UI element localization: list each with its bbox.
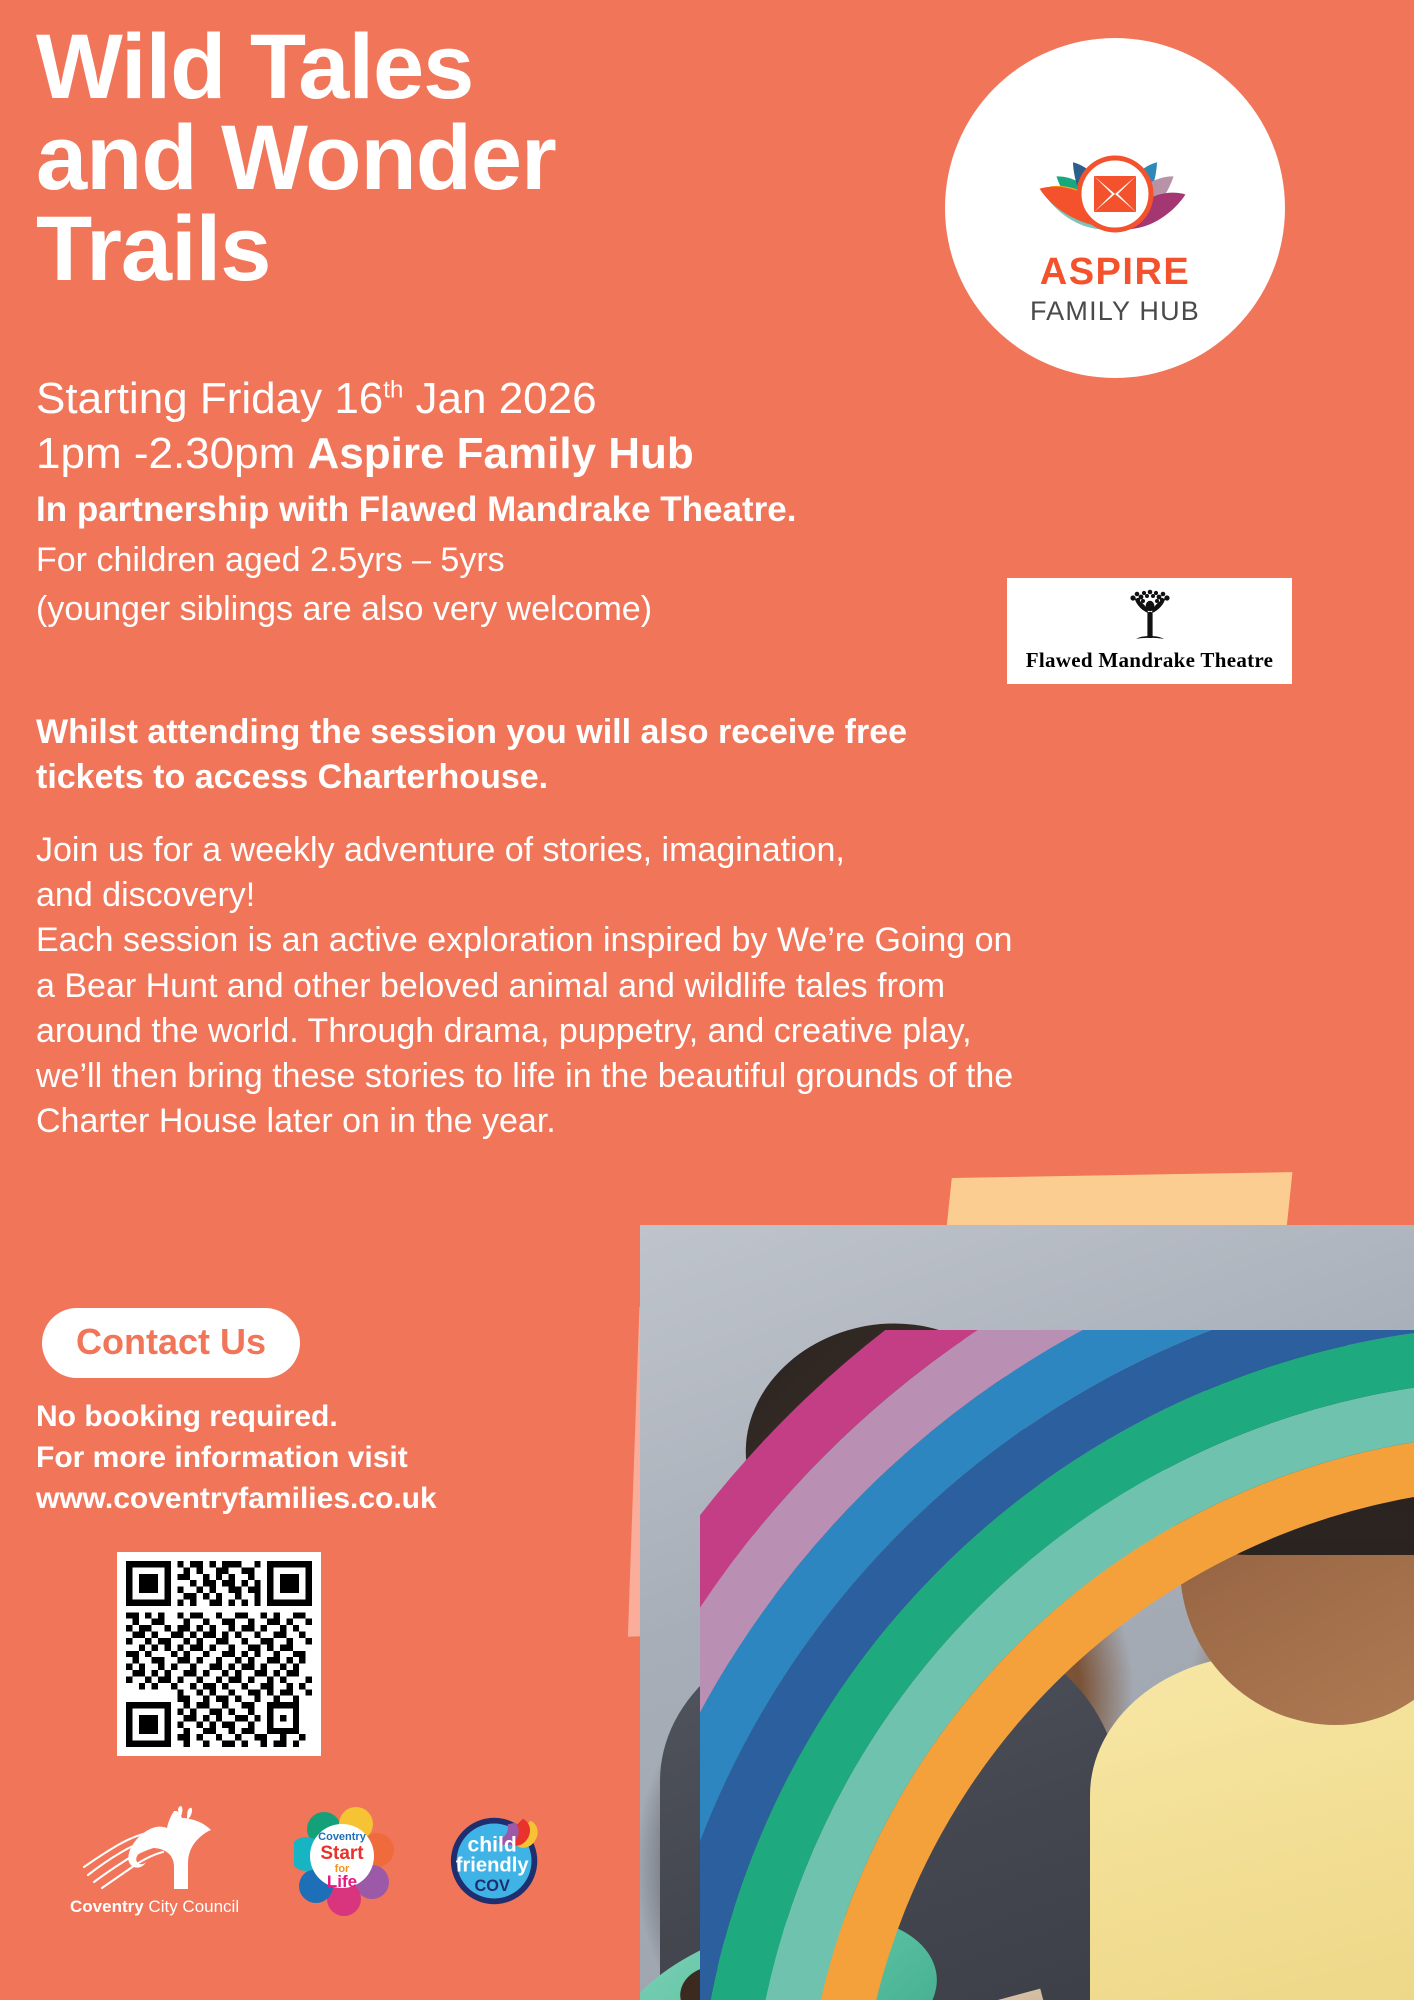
body-p2-line-2: a Bear Hunt and other beloved animal and… bbox=[36, 964, 1046, 1009]
sfl-line-2: Start bbox=[320, 1843, 364, 1864]
free-tickets-line-2: tickets to access Charterhouse. bbox=[36, 755, 916, 800]
partner-logo-name: Flawed Mandrake Theatre bbox=[1026, 648, 1274, 673]
poster-root: Wild Tales and Wonder Trails Starting Fr… bbox=[0, 0, 1414, 2000]
cfc-line-3: COV bbox=[474, 1877, 509, 1895]
mandrake-tree-figure-icon bbox=[1122, 589, 1178, 647]
event-siblings-note: (younger siblings are also very welcome) bbox=[36, 588, 936, 631]
coventry-start-for-life-logo: Coventry Start for Life bbox=[294, 1806, 394, 1916]
contact-us-pill[interactable]: Contact Us bbox=[42, 1308, 300, 1378]
body-p1-line-1: Join us for a weekly adventure of storie… bbox=[36, 828, 1046, 873]
event-time: 1pm -2.30pm bbox=[36, 429, 307, 478]
start-date-prefix: Starting Friday 16 bbox=[36, 374, 383, 423]
start-date-suffix: Jan 2026 bbox=[403, 374, 596, 423]
contact-details: No booking required. For more informatio… bbox=[36, 1396, 576, 1519]
flawed-mandrake-theatre-logo: Flawed Mandrake Theatre bbox=[1007, 578, 1292, 684]
event-age-range: For children aged 2.5yrs – 5yrs bbox=[36, 539, 936, 582]
event-details: Starting Friday 16th Jan 2026 1pm -2.30p… bbox=[36, 372, 936, 631]
event-partnership: In partnership with Flawed Mandrake Thea… bbox=[36, 487, 936, 533]
body-p2-line-5: Charter House later on in the year. bbox=[36, 1099, 1046, 1144]
title-line-2: and Wonder bbox=[36, 113, 736, 204]
title-line-3: Trails bbox=[36, 204, 736, 295]
event-venue: Aspire Family Hub bbox=[307, 429, 693, 478]
contact-website[interactable]: www.coventryfamilies.co.uk bbox=[36, 1478, 576, 1519]
title-line-1: Wild Tales bbox=[36, 22, 736, 113]
contact-line-2: For more information visit bbox=[36, 1437, 576, 1478]
body-copy: Join us for a weekly adventure of storie… bbox=[36, 828, 1046, 1145]
coventry-horse-icon bbox=[70, 1805, 236, 1891]
aspire-lotus-icon bbox=[1015, 90, 1215, 240]
child-friendly-cov-logo: child friendly COV bbox=[448, 1809, 544, 1913]
aspire-logo-name: ASPIRE bbox=[1040, 251, 1190, 294]
family-photo bbox=[640, 1225, 1414, 2000]
free-tickets-note: Whilst attending the session you will al… bbox=[36, 710, 916, 800]
aspire-family-hub-logo: ASPIRE FAMILY HUB bbox=[945, 38, 1285, 378]
body-p1-line-2: and discovery! bbox=[36, 873, 1046, 918]
coventry-city-council-name: Coventry City Council bbox=[70, 1897, 240, 1917]
event-time-venue: 1pm -2.30pm Aspire Family Hub bbox=[36, 427, 936, 482]
body-p2-line-3: around the world. Through drama, puppetr… bbox=[36, 1009, 1046, 1054]
body-p2-line-4: we’ll then bring these stories to life i… bbox=[36, 1054, 1046, 1099]
sfl-line-4: Life bbox=[327, 1872, 357, 1891]
poster-title: Wild Tales and Wonder Trails bbox=[36, 22, 736, 295]
council-name-bold: Coventry bbox=[70, 1897, 144, 1916]
aspire-logo-subtitle: FAMILY HUB bbox=[1030, 296, 1200, 327]
council-name-light: City Council bbox=[144, 1897, 239, 1916]
body-p2-line-1: Each session is an active exploration in… bbox=[36, 918, 1046, 963]
sfl-line-1: Coventry bbox=[318, 1831, 367, 1843]
cfc-line-2: friendly bbox=[456, 1855, 530, 1877]
qr-code-icon bbox=[126, 1561, 312, 1747]
qr-code[interactable] bbox=[117, 1552, 321, 1756]
event-start-date: Starting Friday 16th Jan 2026 bbox=[36, 372, 936, 427]
photo-child-hair bbox=[1165, 1345, 1414, 1555]
coventry-city-council-logo: Coventry City Council bbox=[70, 1805, 240, 1917]
photo-background bbox=[640, 1225, 1414, 2000]
contact-line-1: No booking required. bbox=[36, 1396, 576, 1437]
cfc-line-1: child bbox=[468, 1833, 517, 1856]
start-date-ordinal: th bbox=[383, 376, 403, 403]
free-tickets-line-1: Whilst attending the session you will al… bbox=[36, 710, 916, 755]
footer-logos: Coventry City Council Coventry Start for… bbox=[70, 1805, 544, 1917]
